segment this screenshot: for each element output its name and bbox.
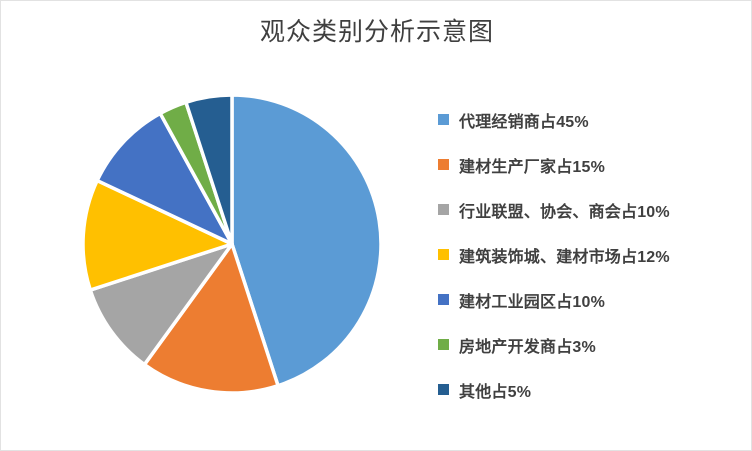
- legend-color-swatch: [438, 114, 449, 125]
- legend-color-swatch: [438, 384, 449, 395]
- legend-item[interactable]: 建筑装饰城、建材市场占12%: [438, 232, 738, 277]
- legend-item[interactable]: 其他占5%: [438, 367, 738, 412]
- legend-item-label: 建筑装饰城、建材市场占12%: [459, 243, 670, 267]
- legend-item[interactable]: 代理经销商占45%: [438, 97, 738, 142]
- legend-color-swatch: [438, 204, 449, 215]
- legend-color-swatch: [438, 159, 449, 170]
- legend-item[interactable]: 行业联盟、协会、商会占10%: [438, 187, 738, 232]
- pie-chart-figure: 观众类别分析示意图 代理经销商占45%建材生产厂家占15%行业联盟、协会、商会占…: [0, 0, 752, 451]
- pie-plot-area: [82, 94, 382, 394]
- chart-legend: 代理经销商占45%建材生产厂家占15%行业联盟、协会、商会占10%建筑装饰城、建…: [438, 97, 738, 412]
- legend-color-swatch: [438, 249, 449, 260]
- legend-color-swatch: [438, 339, 449, 350]
- pie-svg: [82, 94, 382, 394]
- legend-item-label: 建材工业园区占10%: [459, 288, 605, 312]
- legend-item-label: 行业联盟、协会、商会占10%: [459, 198, 670, 222]
- legend-item-label: 房地产开发商占3%: [459, 333, 596, 357]
- chart-title: 观众类别分析示意图: [1, 15, 752, 49]
- legend-color-swatch: [438, 294, 449, 305]
- legend-item[interactable]: 建材生产厂家占15%: [438, 142, 738, 187]
- legend-item-label: 建材生产厂家占15%: [459, 153, 605, 177]
- legend-item-label: 代理经销商占45%: [459, 108, 589, 132]
- legend-item[interactable]: 房地产开发商占3%: [438, 322, 738, 367]
- legend-item[interactable]: 建材工业园区占10%: [438, 277, 738, 322]
- legend-item-label: 其他占5%: [459, 378, 531, 402]
